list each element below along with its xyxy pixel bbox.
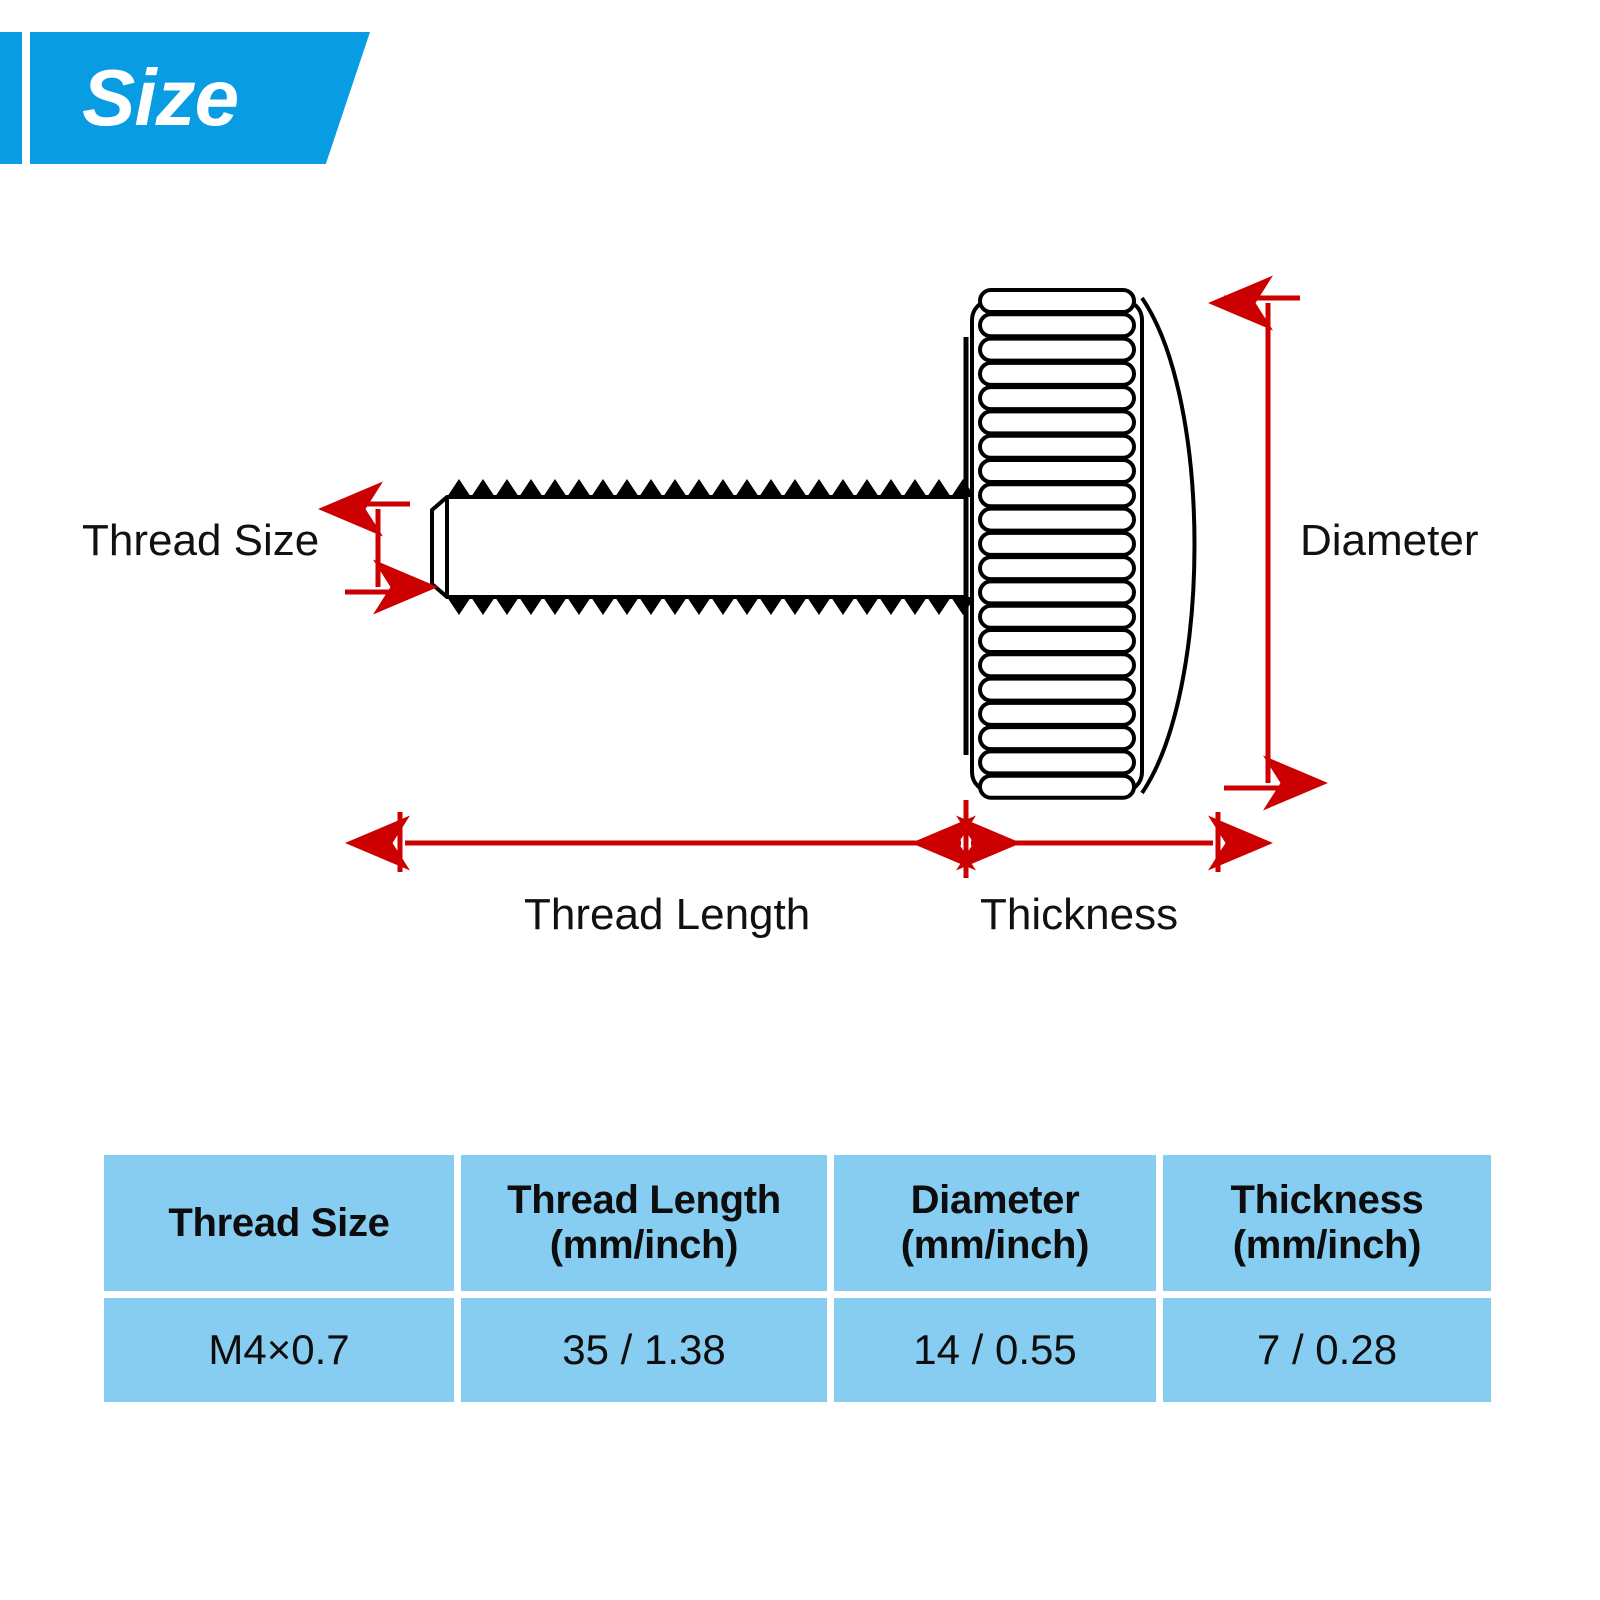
knurl-rib — [980, 436, 1134, 458]
label-diameter: Diameter — [1300, 519, 1479, 563]
thread-teeth-bottom — [447, 597, 975, 615]
header-line-1: Thread Size — [104, 1201, 454, 1246]
knurl-rib — [980, 411, 1134, 433]
knurl-rib — [980, 387, 1134, 409]
head-knurl-ribs — [980, 290, 1134, 798]
cell-thread-length: 35 / 1.38 — [461, 1298, 827, 1402]
knurl-rib — [980, 679, 1134, 701]
dimension-thread-size — [345, 504, 410, 592]
head-dome-arc — [1142, 298, 1195, 793]
label-thread-size: Thread Size — [82, 519, 319, 563]
screw-shaft-group — [432, 479, 975, 615]
header-line-2: (mm/inch) — [461, 1223, 827, 1268]
knurl-rib — [980, 727, 1134, 749]
spec-table: Thread Size Thread Length (mm/inch) Diam… — [97, 1148, 1498, 1409]
knurl-rib — [980, 484, 1134, 506]
knurl-rib — [980, 509, 1134, 531]
knurl-rib — [980, 630, 1134, 652]
knurl-rib — [980, 314, 1134, 336]
knurl-rib — [980, 460, 1134, 482]
cell-thickness: 7 / 0.28 — [1163, 1298, 1491, 1402]
header-line-1: Thread Length — [461, 1178, 827, 1223]
header-line-2: (mm/inch) — [1163, 1223, 1491, 1268]
knurl-rib — [980, 533, 1134, 555]
table-row: M4×0.7 35 / 1.38 14 / 0.55 7 / 0.28 — [104, 1298, 1491, 1402]
dimension-thickness — [971, 812, 1218, 872]
dimension-thread-length — [400, 800, 966, 878]
dimension-diameter — [1224, 298, 1300, 788]
table-header-thread-length: Thread Length (mm/inch) — [461, 1155, 827, 1291]
cell-thread-size: M4×0.7 — [104, 1298, 454, 1402]
screw-head-group — [966, 290, 1195, 798]
knurl-rib — [980, 606, 1134, 628]
label-thread-length: Thread Length — [524, 893, 810, 937]
header-line-1: Thickness — [1163, 1178, 1491, 1223]
knurl-rib — [980, 290, 1134, 312]
header-line-2: (mm/inch) — [834, 1223, 1156, 1268]
table-header-thickness: Thickness (mm/inch) — [1163, 1155, 1491, 1291]
knurl-rib — [980, 703, 1134, 725]
table-header-thread-size: Thread Size — [104, 1155, 454, 1291]
knurl-rib — [980, 363, 1134, 385]
label-thickness: Thickness — [980, 893, 1178, 937]
header-line-1: Diameter — [834, 1178, 1156, 1223]
knurl-rib — [980, 776, 1134, 798]
table-header-row: Thread Size Thread Length (mm/inch) Diam… — [104, 1155, 1491, 1291]
table-header-diameter: Diameter (mm/inch) — [834, 1155, 1156, 1291]
cell-diameter: 14 / 0.55 — [834, 1298, 1156, 1402]
knurl-rib — [980, 654, 1134, 676]
thread-teeth-top — [447, 479, 975, 497]
size-spec-page: Size — [0, 0, 1600, 1600]
knurl-rib — [980, 581, 1134, 603]
knurl-rib — [980, 751, 1134, 773]
knurl-rib — [980, 557, 1134, 579]
screw-shaft — [432, 497, 966, 597]
knurl-rib — [980, 339, 1134, 361]
